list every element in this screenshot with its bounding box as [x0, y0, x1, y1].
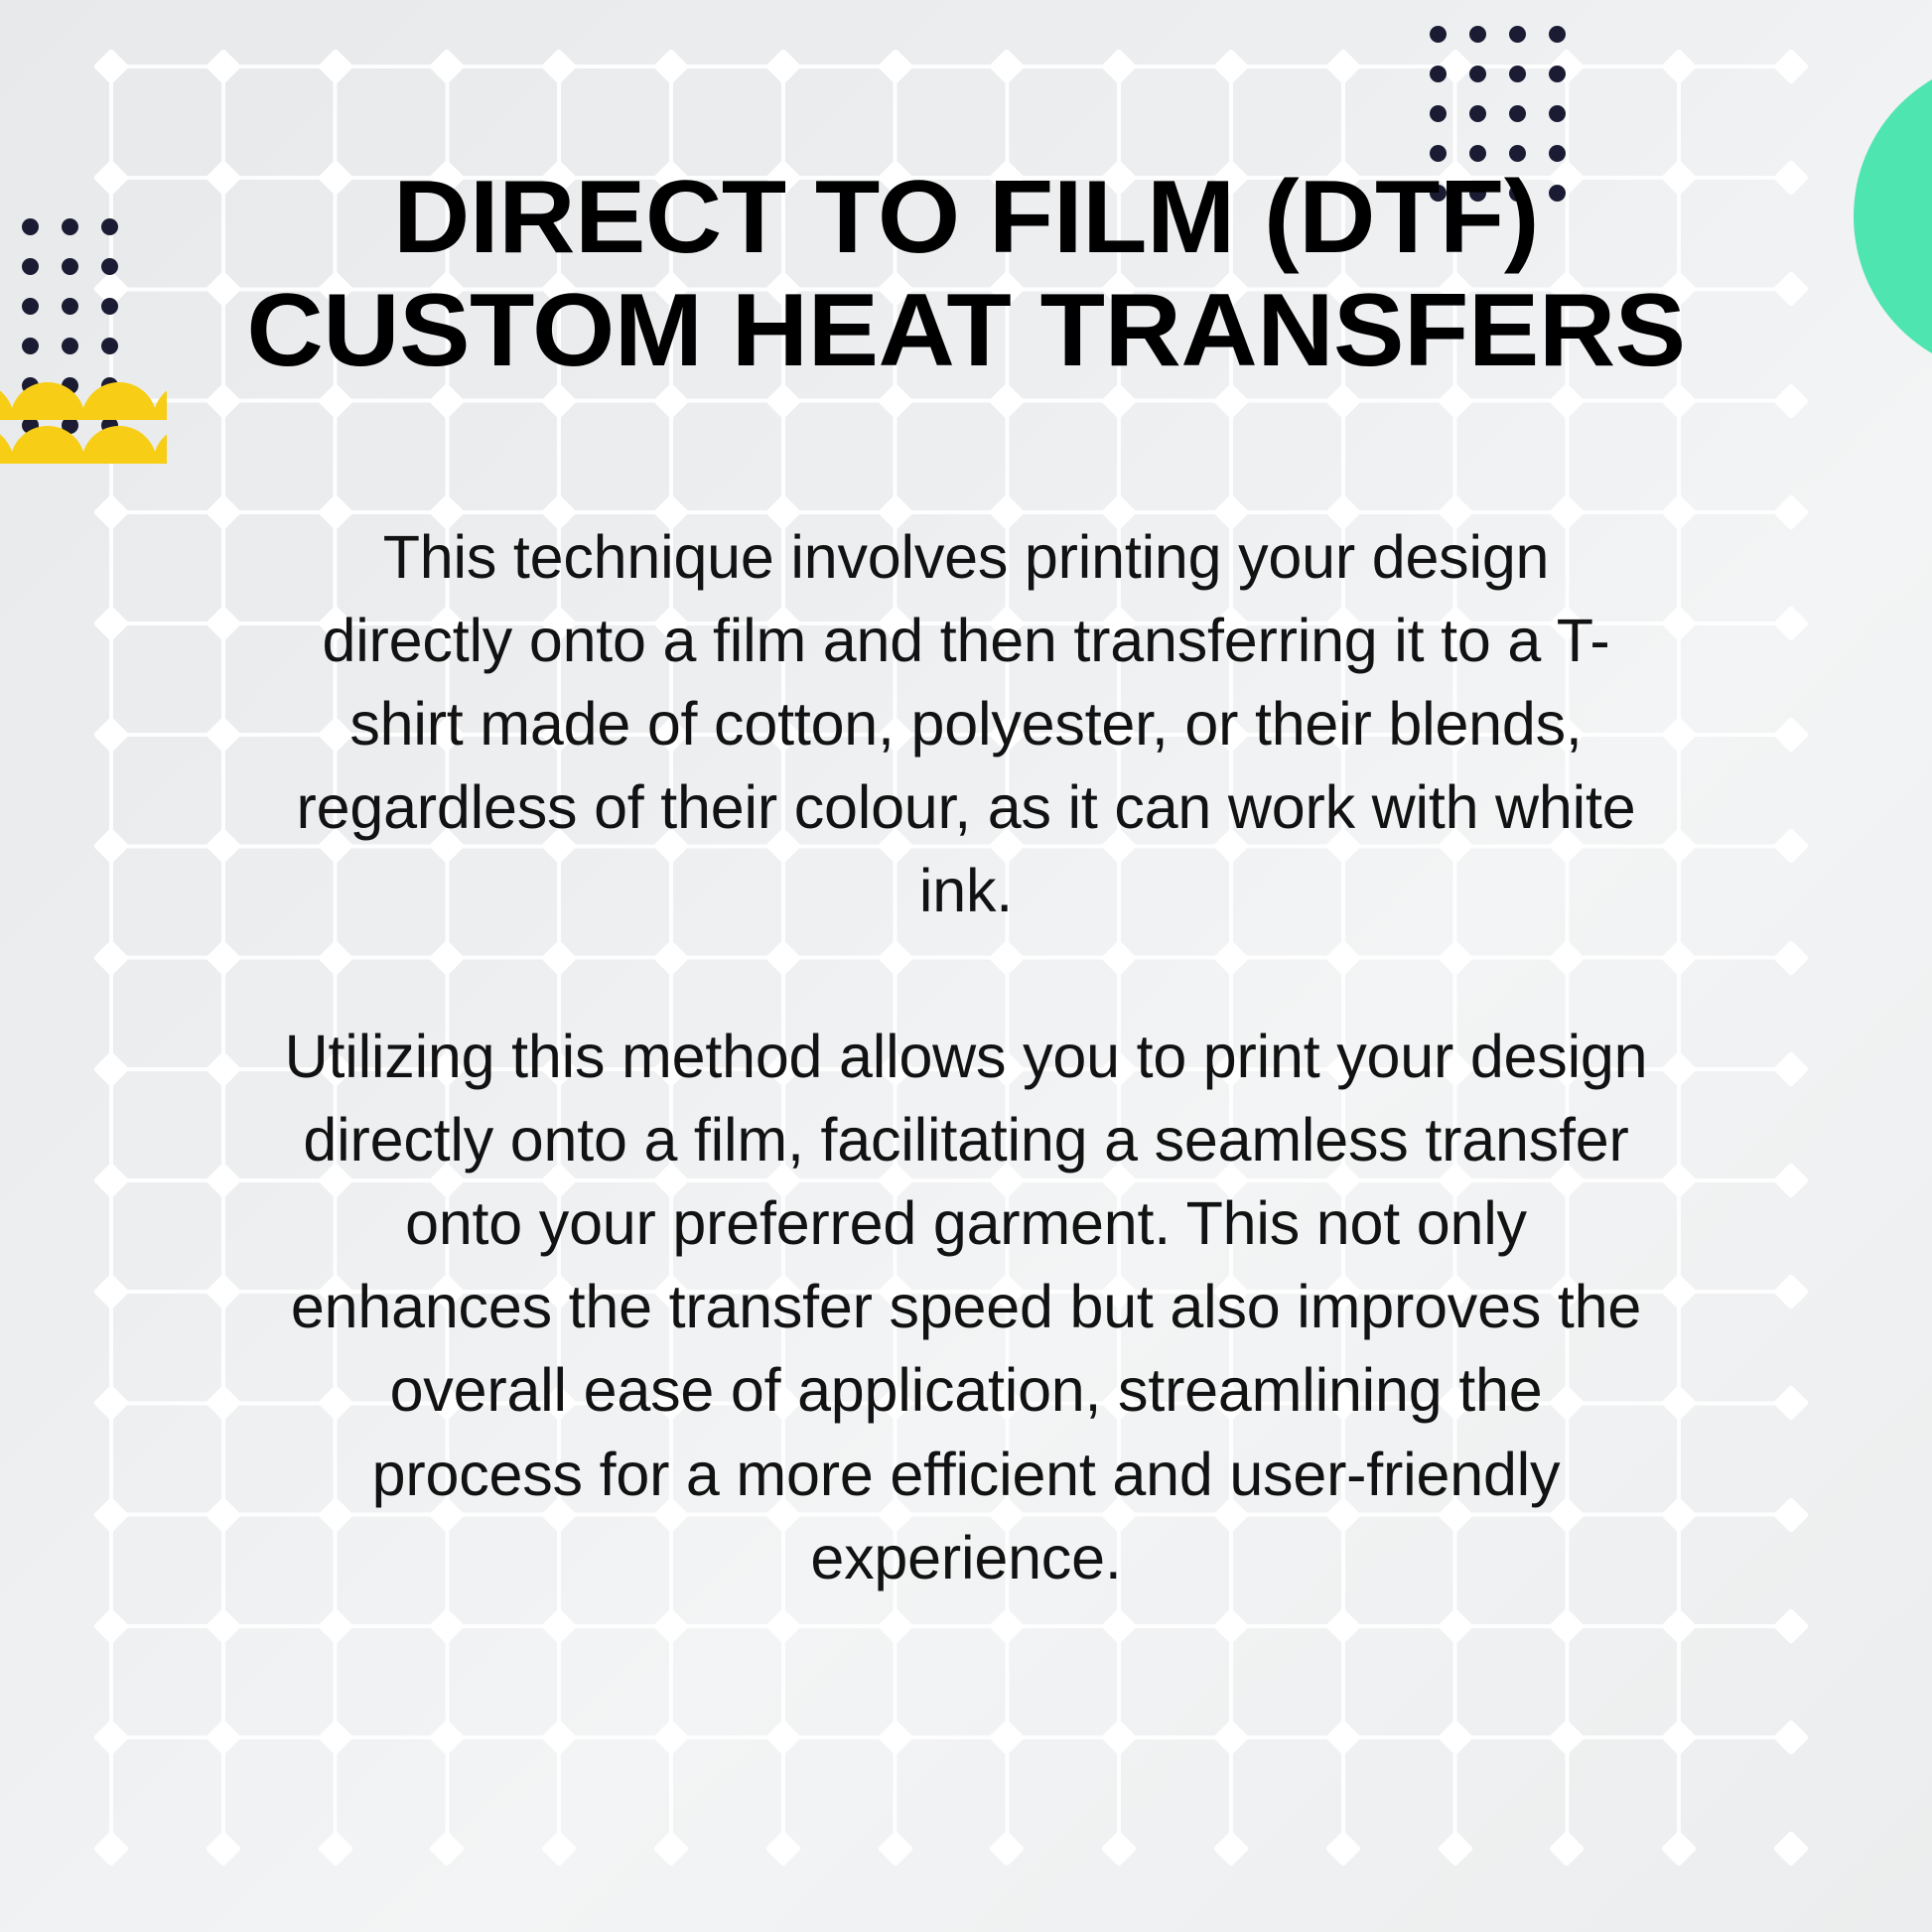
title-line-1: DIRECT TO FILM (DTF) — [240, 161, 1693, 274]
paragraph-1: This technique involves printing your de… — [284, 515, 1649, 933]
infographic-canvas: DIRECT TO FILM (DTF) CUSTOM HEAT TRANSFE… — [0, 0, 1932, 1932]
paragraph-2: Utilizing this method allows you to prin… — [284, 1015, 1649, 1599]
title-line-2: CUSTOM HEAT TRANSFERS — [240, 274, 1693, 387]
page-title: DIRECT TO FILM (DTF) CUSTOM HEAT TRANSFE… — [261, 161, 1671, 388]
content-area: DIRECT TO FILM (DTF) CUSTOM HEAT TRANSFE… — [0, 0, 1932, 1932]
body-copy: This technique involves printing your de… — [284, 515, 1649, 1599]
